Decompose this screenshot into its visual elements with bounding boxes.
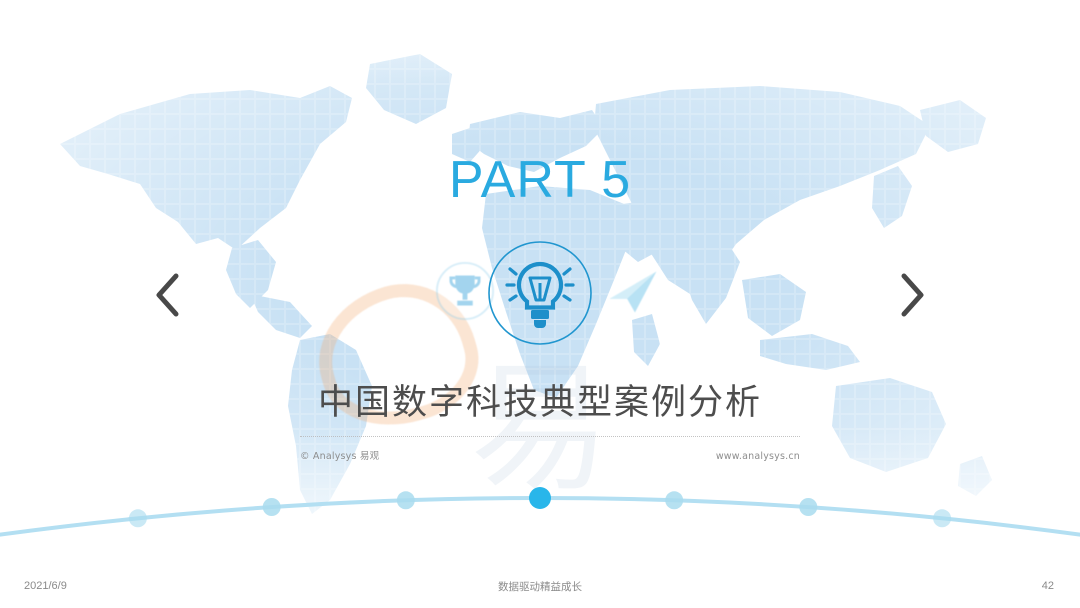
footer-tagline: 数据驱动精益成长 [0, 579, 1080, 594]
meta-block: © Analysys 易观 www.analysys.cn [300, 436, 800, 462]
copyright-text: © Analysys 易观 [300, 448, 379, 462]
progress-dot-1[interactable] [129, 509, 147, 527]
part-label: PART 5 [0, 150, 1080, 210]
page-number: 42 [1042, 580, 1054, 592]
paper-plane-icon [602, 260, 664, 322]
presentation-slide: 易 PART 5 [0, 0, 1080, 608]
website-link[interactable]: www.analysys.cn [716, 451, 800, 462]
progress-dot-2[interactable] [263, 498, 281, 516]
progress-dot-5[interactable] [665, 491, 683, 509]
page-title: 中国数字科技典型案例分析 [0, 374, 1080, 425]
meta-row: © Analysys 易观 www.analysys.cn [300, 448, 800, 462]
progress-dot-4[interactable] [529, 487, 551, 509]
meta-divider [300, 436, 800, 437]
progress-dot-6[interactable] [799, 498, 817, 516]
progress-dot-7[interactable] [933, 509, 951, 527]
progress-dot-3[interactable] [397, 491, 415, 509]
slide-footer: 2021/6/9 数据驱动精益成长 42 [0, 564, 1080, 608]
lightbulb-icon [487, 240, 593, 346]
